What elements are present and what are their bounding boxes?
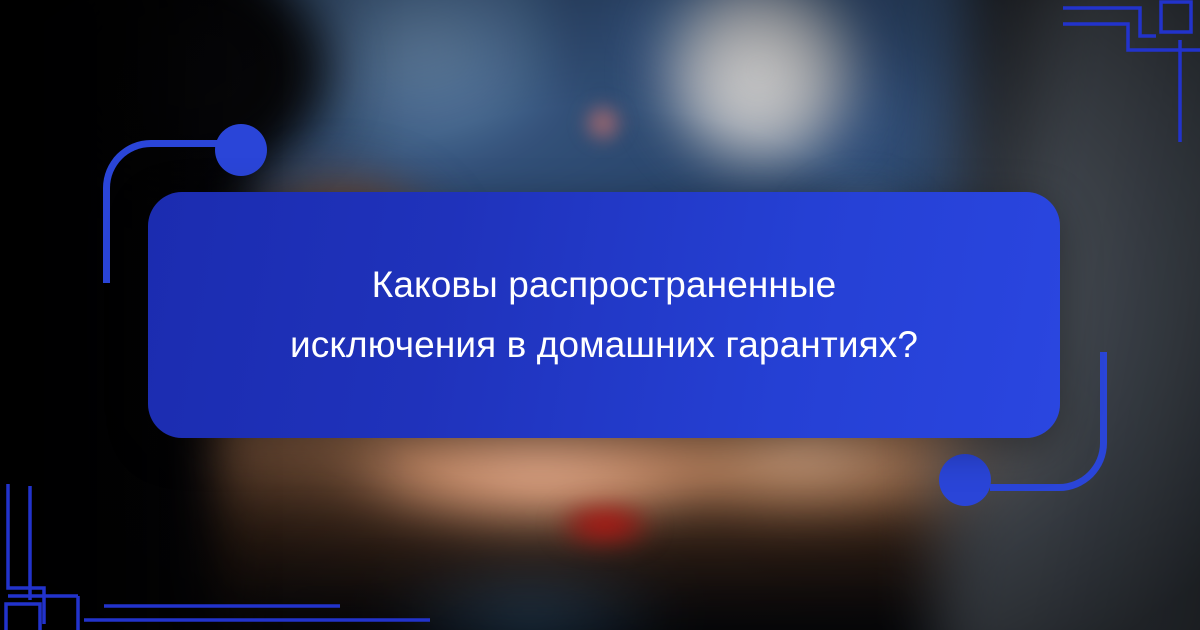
photo-pink-speck <box>580 100 626 146</box>
social-card-canvas: Каковы распространенные исключения в дом… <box>0 0 1200 630</box>
decorative-dot-top-left <box>215 124 267 176</box>
photo-red-object <box>540 495 670 555</box>
headline-card: Каковы распространенные исключения в дом… <box>148 192 1060 438</box>
card-title: Каковы распространенные исключения в дом… <box>250 255 958 375</box>
decorative-dot-bottom-right <box>939 454 991 506</box>
